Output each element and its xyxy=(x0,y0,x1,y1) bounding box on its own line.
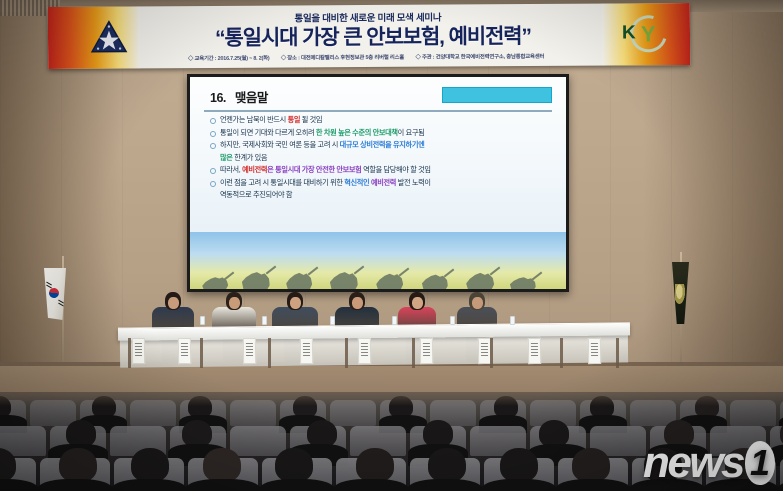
panelist-face xyxy=(412,297,423,309)
watermark-digit: 1 xyxy=(745,441,775,485)
organization-emblem xyxy=(675,284,686,306)
audience-member-head xyxy=(423,420,453,447)
soldier-rifle-silhouette xyxy=(354,266,365,275)
slide-bullet: 언젠가는 남북이 반드시 통일 될 것임 xyxy=(208,115,556,125)
slide-content-area: 16. 맺음말 언젠가는 남북이 반드시 통일 될 것임통일이 되면 기대와 다… xyxy=(190,77,566,232)
soldier-rifle-silhouette xyxy=(308,267,319,276)
table-leg xyxy=(128,338,131,368)
table-leg xyxy=(412,338,415,368)
audience-member-shoulders xyxy=(111,479,187,491)
bullet-text-run: 은 통일시대 가장 안전한 안보보험 xyxy=(267,165,361,174)
bullet-text-run: 역동적으로 추진되어야 함 xyxy=(220,190,292,199)
ky-logo-k: K xyxy=(622,22,634,44)
bullet-text-run: 예비전력 xyxy=(371,178,396,187)
audience-member-shoulders xyxy=(259,479,335,491)
bullet-text-run: 혁신적인 xyxy=(344,178,369,187)
soldier-silhouette xyxy=(510,274,537,289)
table-leg xyxy=(345,338,348,368)
audience-top-fade xyxy=(0,392,783,406)
slide-bullet-list: 언젠가는 남북이 반드시 통일 될 것임통일이 되면 기대와 다르게 오히려 한… xyxy=(208,115,556,203)
audience-member-shoulders xyxy=(333,479,409,491)
slide-heading: 16. 맺음말 xyxy=(210,87,268,106)
name-placard xyxy=(132,338,145,364)
name-placard xyxy=(528,338,541,364)
audience-member-head xyxy=(500,448,538,482)
bullet-text-run: 이 요구됨 xyxy=(398,128,425,137)
bullet-text-run: 발전 노력이 xyxy=(396,178,431,187)
panelist-face xyxy=(352,297,363,309)
projection-screen: 16. 맺음말 언젠가는 남북이 반드시 통일 될 것임통일이 되면 기대와 다… xyxy=(187,74,569,292)
taeguk-symbol xyxy=(47,286,60,299)
audience-member-head xyxy=(428,448,466,482)
slide-accent-box xyxy=(442,87,552,103)
slide-bullet-continuation: 역동적으로 추진되어야 함 xyxy=(208,190,556,200)
water-cup xyxy=(262,316,267,325)
ky-logo-icon: K Y xyxy=(618,14,674,54)
bullet-text-run: 대규모 상비전력을 유지하기엔 xyxy=(340,140,425,149)
water-cup xyxy=(510,316,515,325)
audience-member-shoulders xyxy=(37,479,113,491)
audience-member-shoulders xyxy=(407,479,483,491)
soldier-silhouette xyxy=(201,274,228,289)
name-placard xyxy=(243,338,256,364)
audience-member-head xyxy=(182,420,212,447)
water-cup xyxy=(450,316,455,325)
table-leg xyxy=(200,338,203,368)
table-leg xyxy=(490,338,493,368)
audience-member-shoulders xyxy=(481,479,557,491)
audience-member-shoulders xyxy=(185,479,261,491)
soldier-rifle-silhouette xyxy=(399,268,410,277)
table-leg xyxy=(560,338,563,368)
audience-member-head xyxy=(66,420,96,447)
audience-member-head xyxy=(203,448,241,482)
bullet-text-run: 예비전력 xyxy=(242,165,267,174)
audience-member-head xyxy=(59,448,97,482)
bullet-text-run: 될 것임 xyxy=(300,115,322,124)
soldier-rifle-silhouette xyxy=(444,269,455,278)
soldier-rifle-silhouette xyxy=(224,272,235,281)
name-placard xyxy=(420,338,433,364)
banner-meta-host: ◇ 주관 : 건양대학교 한국예비전력연구소, 충남통합교육센터 xyxy=(415,54,544,61)
bullet-text-run: 많은 xyxy=(220,153,234,162)
auditorium-seat xyxy=(230,426,286,456)
slide-bullet: 하지만, 국제사회와 국민 여론 등을 고려 시 대규모 상비전력을 유지하기엔 xyxy=(208,140,556,150)
bullet-text-run: 하지만, 국제사회와 국민 여론 등을 고려 시 xyxy=(220,140,340,149)
banner-meta-period: ◇ 교육기간 : 2016.7.25(월) ~ 8. 2(화) xyxy=(188,56,270,62)
audience-member-head xyxy=(539,420,569,447)
audience-member-head xyxy=(131,448,169,482)
bullet-text-run: 한계가 있음 xyxy=(234,153,267,162)
table-leg xyxy=(268,338,271,368)
audience-member-head xyxy=(572,448,610,482)
slide-bullet: 따라서, 예비전력은 통일시대 가장 안전한 안보보험 역할을 담당해야 할 것… xyxy=(208,165,556,175)
reserve-forces-emblem-icon xyxy=(90,18,128,56)
slide-title: 맺음말 xyxy=(235,91,268,105)
name-placard xyxy=(178,338,191,364)
banner-meta-line: ◇ 교육기간 : 2016.7.25(월) ~ 8. 2(화) ◇ 장소 : 대… xyxy=(106,51,626,62)
bullet-text-run: 이런 점을 고려 시 통일시대를 대비하기 위한 xyxy=(220,178,344,187)
slide-bullet: 통일이 되면 기대와 다르게 오히려 한 차원 높은 수준의 안보대책이 요구됨 xyxy=(208,128,556,138)
soldier-rifle-silhouette xyxy=(532,272,543,281)
soldier-rifle-silhouette xyxy=(266,266,277,275)
seminar-photograph: 통일을 대비한 새로운 미래 모색 세미나 “통일시대 가장 큰 안보보험, 예… xyxy=(0,0,783,491)
bullet-text-run: 통일 xyxy=(288,115,301,124)
audience-member-head xyxy=(356,448,394,482)
audience-member-shoulders xyxy=(555,479,631,491)
ky-logo-y: Y xyxy=(641,21,655,47)
audience-member-head xyxy=(307,420,337,447)
panelist-face xyxy=(290,297,301,309)
bullet-text-run: 통일이 되면 기대와 다르게 오히려 xyxy=(220,128,316,137)
bullet-text-run: 따라서, xyxy=(220,165,242,174)
slide-divider xyxy=(204,110,552,112)
panelist-face xyxy=(472,297,483,309)
slide-soldier-image xyxy=(190,232,566,289)
panelist-face xyxy=(168,297,179,309)
banner-meta-venue: ◇ 장소 : 대전메디칼팰리스 후현정보관 5층 리버럴 리스홀 xyxy=(281,55,404,62)
water-cup xyxy=(330,316,335,325)
name-placard xyxy=(358,338,371,364)
name-placard xyxy=(300,338,313,364)
news1-watermark: news1 xyxy=(643,441,775,485)
seminar-banner: 통일을 대비한 새로운 미래 모색 세미나 “통일시대 가장 큰 안보보험, 예… xyxy=(48,3,690,69)
audience-member-head xyxy=(275,448,313,482)
bullet-text-run: 한 차원 높은 수준의 안보대책 xyxy=(316,128,398,137)
water-cup xyxy=(392,316,397,325)
water-cup xyxy=(200,316,205,325)
slide-bullet: 이런 점을 고려 시 통일시대를 대비하기 위한 혁신적인 예비전력 발전 노력… xyxy=(208,178,556,188)
name-placard xyxy=(588,338,601,364)
slide-bullet-continuation: 많은 한계가 있음 xyxy=(208,153,556,163)
table-leg xyxy=(616,338,619,368)
watermark-text: news xyxy=(643,438,743,487)
banner-title: “통일시대 가장 큰 안보보험, 예비전력” xyxy=(158,20,588,53)
bullet-text-run: 언젠가는 남북이 반드시 xyxy=(220,115,288,124)
soldier-rifle-silhouette xyxy=(490,267,501,276)
panelist-face xyxy=(229,297,240,309)
slide-number: 16. xyxy=(210,91,226,105)
bullet-text-run: 역할을 담당해야 할 것임 xyxy=(361,165,430,174)
